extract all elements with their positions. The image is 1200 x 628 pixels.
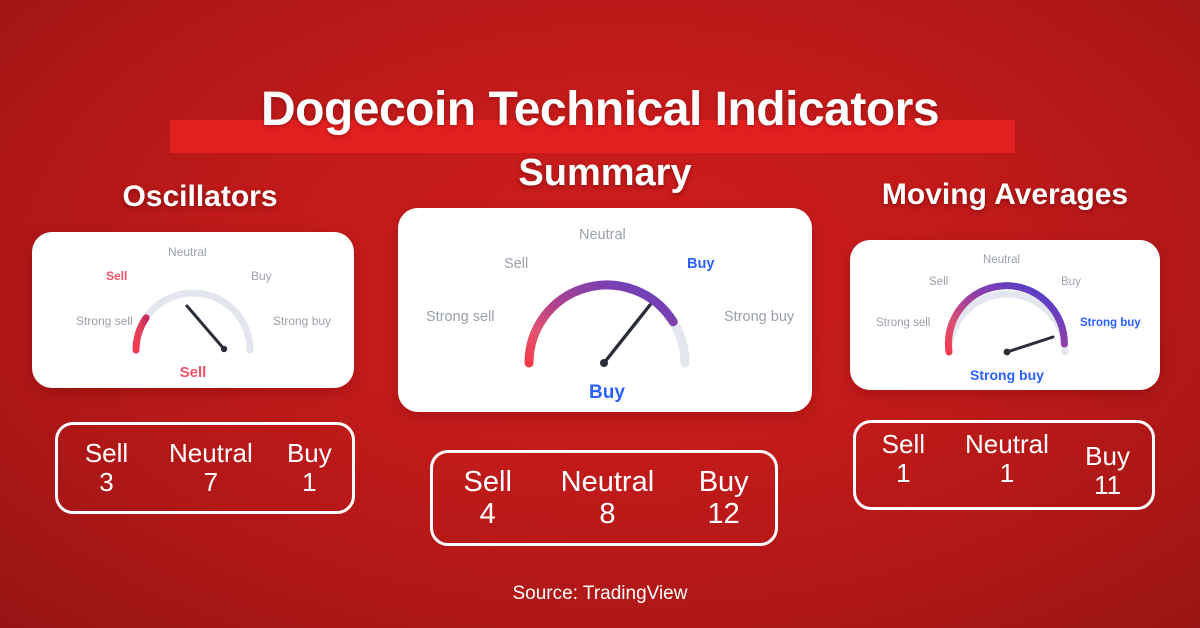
count-value: 1: [267, 469, 352, 496]
gauge-needle: [600, 305, 650, 367]
gauge-label-sell: Sell: [929, 276, 948, 288]
count-value: 11: [1063, 472, 1152, 499]
gauge-label-strong-sell: Strong sell: [426, 309, 495, 325]
gauge-label-strong-sell: Strong sell: [876, 317, 930, 329]
gauge-oscillators: Strong sell Sell Neutral Buy Strong buy …: [32, 232, 354, 388]
gauge-needle: [187, 306, 227, 352]
count-value: 12: [672, 499, 775, 529]
panel-heading-summary: Summary: [398, 152, 812, 195]
gauge-verdict-moving-averages: Strong buy: [970, 367, 1044, 383]
count-cell-neutral: Neutral 8: [542, 467, 672, 530]
gauge-track: [529, 285, 685, 363]
count-label: Sell: [58, 440, 155, 467]
counts-box-oscillators: Sell 3 Neutral 7 Buy 1: [55, 422, 355, 514]
gauge-label-strong-buy: Strong buy: [1080, 317, 1141, 329]
count-cell-buy: Buy 11: [1063, 431, 1152, 500]
gauge-label-neutral: Neutral: [983, 254, 1020, 266]
gauge-verdict-oscillators: Sell: [180, 364, 207, 381]
gauge-moving-averages: Strong sell Sell Neutral Buy Strong buy …: [850, 240, 1160, 390]
gauge-fill: [529, 285, 673, 363]
gauge-label-buy: Buy: [251, 269, 272, 283]
gauge-label-strong-sell: Strong sell: [76, 314, 133, 328]
count-label: Buy: [1063, 443, 1152, 470]
gauge-card-summary[interactable]: Strong sell Sell Neutral Buy Strong buy …: [398, 208, 812, 412]
count-label: Neutral: [155, 440, 267, 467]
gauge-summary: Strong sell Sell Neutral Buy Strong buy …: [398, 208, 812, 412]
gauge-label-neutral: Neutral: [579, 227, 626, 243]
count-label: Neutral: [542, 467, 672, 497]
page-title: Dogecoin Technical Indicators: [0, 82, 1200, 137]
count-cell-neutral: Neutral 7: [155, 440, 267, 497]
panel-heading-oscillators: Oscillators: [30, 180, 370, 214]
count-value: 3: [58, 469, 155, 496]
count-cell-buy: Buy 12: [672, 467, 775, 530]
count-row: Sell 4 Neutral 8 Buy 12: [433, 467, 775, 530]
gauge-card-oscillators[interactable]: Strong sell Sell Neutral Buy Strong buy …: [32, 232, 354, 388]
count-label: Buy: [267, 440, 352, 467]
gauge-label-sell: Sell: [106, 269, 127, 283]
gauge-label-strong-buy: Strong buy: [273, 314, 331, 328]
count-value: 1: [951, 460, 1063, 487]
gauge-needle: [1004, 337, 1053, 355]
count-row: Sell 3 Neutral 7 Buy 1: [58, 440, 352, 497]
gauge-label-buy: Buy: [687, 256, 714, 272]
counts-box-summary: Sell 4 Neutral 8 Buy 12: [430, 450, 778, 546]
count-value: 8: [542, 499, 672, 529]
count-value: 4: [433, 499, 542, 529]
count-label: Sell: [856, 431, 951, 458]
gauge-fill: [136, 318, 146, 350]
count-cell-neutral: Neutral 1: [951, 431, 1063, 488]
gauge-label-strong-buy: Strong buy: [724, 309, 795, 325]
count-label: Buy: [672, 467, 775, 497]
gauge-label-buy: Buy: [1061, 276, 1081, 288]
count-value: 1: [856, 460, 951, 487]
count-cell-sell: Sell 3: [58, 440, 155, 497]
count-row: Sell 1 Neutral 1 Buy 11: [856, 431, 1152, 500]
counts-box-moving-averages: Sell 1 Neutral 1 Buy 11: [853, 420, 1155, 510]
gauge-verdict-summary: Buy: [589, 382, 625, 403]
count-cell-sell: Sell 4: [433, 467, 542, 530]
gauge-card-moving-averages[interactable]: Strong sell Sell Neutral Buy Strong buy …: [850, 240, 1160, 390]
gauge-label-sell: Sell: [504, 256, 528, 272]
panel-heading-moving-averages: Moving Averages: [845, 178, 1165, 212]
gauge-label-neutral: Neutral: [168, 245, 207, 259]
gauge-track: [136, 293, 250, 350]
source-attribution: Source: TradingView: [0, 583, 1200, 605]
count-cell-sell: Sell 1: [856, 431, 951, 488]
title-area: Dogecoin Technical Indicators: [0, 38, 1200, 126]
count-value: 7: [155, 469, 267, 496]
count-label: Neutral: [951, 431, 1063, 458]
count-label: Sell: [433, 467, 542, 497]
count-cell-buy: Buy 1: [267, 440, 352, 497]
